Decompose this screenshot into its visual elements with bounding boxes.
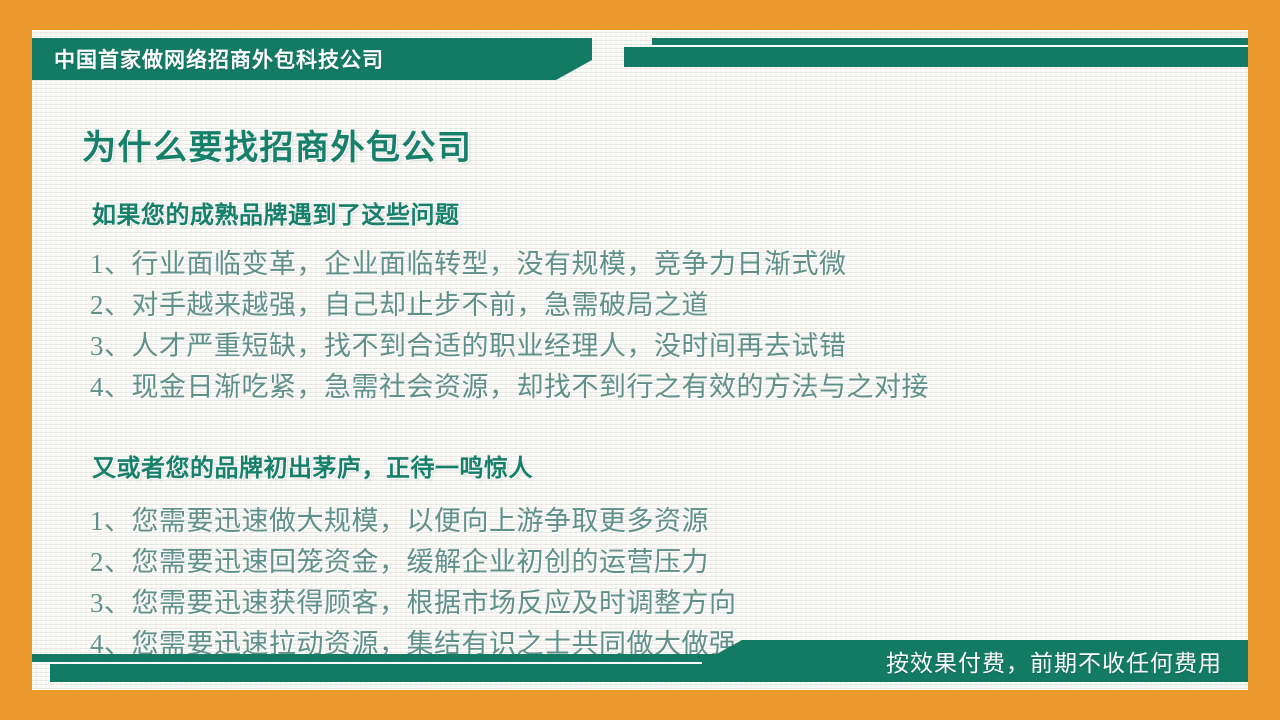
footer-tag-block: 按效果付费，前期不收任何费用 — [702, 640, 1248, 682]
header-tag-block: 中国首家做网络招商外包科技公司 — [32, 38, 592, 80]
footer-accent-stripe-top — [32, 654, 720, 662]
list-item: 2、对手越来越强，自己却止步不前，急需破局之道 — [90, 285, 1248, 326]
slide-root: 中国首家做网络招商外包科技公司 为什么要找招商外包公司 如果您的成熟品牌遇到了这… — [0, 0, 1280, 720]
footer-tag-label: 按效果付费，前期不收任何费用 — [886, 644, 1222, 678]
problem-list: 1、行业面临变革，企业面临转型，没有规模，竞争力日渐式微 2、对手越来越强，自己… — [32, 244, 1248, 408]
header-accent-stripe-top — [652, 38, 1248, 45]
footer-accent-stripe-bottom — [50, 664, 720, 682]
list-item: 1、您需要迅速做大规模，以便向上游争取更多资源 — [90, 501, 1248, 542]
section-heading: 如果您的成熟品牌遇到了这些问题 — [92, 195, 1248, 230]
content-area: 为什么要找招商外包公司 如果您的成熟品牌遇到了这些问题 1、行业面临变革，企业面… — [32, 90, 1248, 665]
paper-panel: 中国首家做网络招商外包科技公司 为什么要找招商外包公司 如果您的成熟品牌遇到了这… — [32, 30, 1248, 690]
header-accent-stripe-bottom — [624, 47, 1248, 67]
list-item: 2、您需要迅速回笼资金，缓解企业初创的运营压力 — [90, 542, 1248, 583]
list-item: 3、人才严重短缺，找不到合适的职业经理人，没时间再去试错 — [90, 326, 1248, 367]
list-item: 3、您需要迅速获得顾客，根据市场反应及时调整方向 — [90, 583, 1248, 624]
section-heading: 又或者您的品牌初出茅庐，正待一鸣惊人 — [92, 448, 1248, 483]
footer-banner: 按效果付费，前期不收任何费用 — [32, 632, 1248, 690]
page-title: 为什么要找招商外包公司 — [82, 120, 1248, 169]
header-tag-label: 中国首家做网络招商外包科技公司 — [54, 44, 384, 74]
section-mature-brand: 如果您的成熟品牌遇到了这些问题 1、行业面临变革，企业面临转型，没有规模，竞争力… — [32, 195, 1248, 408]
list-item: 1、行业面临变革，企业面临转型，没有规模，竞争力日渐式微 — [90, 244, 1248, 285]
header-banner: 中国首家做网络招商外包科技公司 — [32, 38, 1248, 90]
list-item: 4、现金日渐吃紧，急需社会资源，却找不到行之有效的方法与之对接 — [90, 367, 1248, 408]
